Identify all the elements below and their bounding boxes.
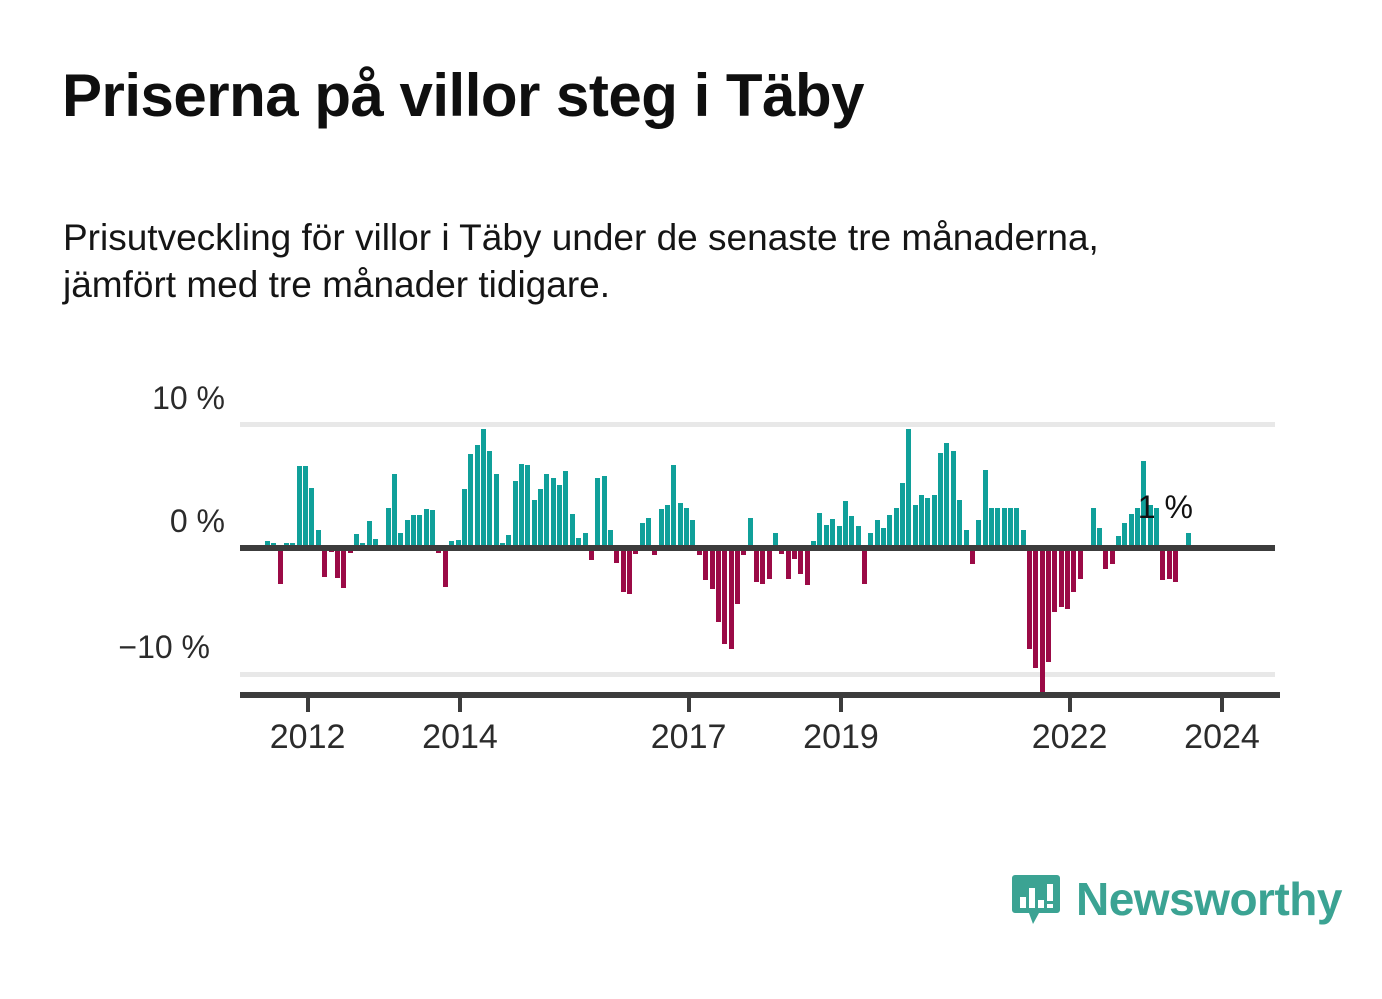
bar: [532, 500, 537, 545]
bar: [837, 526, 842, 545]
x-axis-tick: [1220, 698, 1224, 712]
bar: [944, 443, 949, 546]
bar: [1033, 549, 1038, 668]
x-axis-tick: [1068, 698, 1072, 712]
bar: [957, 500, 962, 545]
bar: [906, 429, 911, 545]
bar: [659, 509, 664, 545]
bar: [983, 470, 988, 545]
bar: [1002, 508, 1007, 546]
bar: [411, 515, 416, 545]
bar: [690, 520, 695, 545]
bar: [1129, 514, 1134, 545]
bar: [786, 549, 791, 579]
bar: [398, 533, 403, 546]
bar: [894, 508, 899, 546]
bar: [544, 474, 549, 545]
bar: [1173, 549, 1178, 582]
bar: [887, 515, 892, 545]
bar: [1103, 549, 1108, 569]
bar: [1052, 549, 1057, 612]
bar: [1186, 533, 1191, 546]
x-axis-tick: [306, 698, 310, 712]
bar: [824, 525, 829, 545]
bar: [1116, 536, 1121, 545]
bar: [1091, 508, 1096, 546]
bar: [513, 481, 518, 545]
bar: [538, 489, 543, 545]
bar: [976, 520, 981, 545]
bar: [1078, 549, 1083, 579]
x-axis-tick-label: 2017: [651, 718, 727, 757]
bar: [925, 498, 930, 546]
bar: [862, 549, 867, 584]
bar: [468, 454, 473, 545]
bar: [335, 549, 340, 578]
bar: [995, 508, 1000, 546]
bar: [938, 453, 943, 546]
bar: [735, 549, 740, 604]
bar: [900, 483, 905, 546]
bar: [1167, 549, 1172, 579]
bar: [671, 465, 676, 545]
bar: [951, 451, 956, 545]
bar: [843, 501, 848, 545]
bar: [487, 451, 492, 545]
bar: [710, 549, 715, 589]
x-axis-tick-label: 2019: [803, 718, 879, 757]
bar: [913, 505, 918, 545]
bar: [341, 549, 346, 588]
bar: [557, 485, 562, 545]
bar: [767, 549, 772, 579]
bar: [1097, 528, 1102, 546]
bar: [875, 520, 880, 545]
bar: [576, 538, 581, 546]
bar: [1027, 549, 1032, 649]
bar: [964, 530, 969, 545]
bar: [716, 549, 721, 622]
bar: [868, 533, 873, 546]
bar: [881, 528, 886, 546]
bar: [703, 549, 708, 580]
bar: [1046, 549, 1051, 662]
bar: [462, 489, 467, 545]
x-axis-tick: [458, 698, 462, 712]
x-axis-tick-label: 2014: [422, 718, 498, 757]
bar: [430, 510, 435, 545]
bar-chart: 1 % 10 % 0 % −10 % 201220142017201920222…: [0, 370, 1382, 770]
x-axis-tick-label: 2022: [1032, 718, 1108, 757]
bar: [506, 535, 511, 545]
bar: [646, 518, 651, 546]
bar: [678, 503, 683, 546]
bar: [856, 526, 861, 545]
bar: [494, 474, 499, 545]
bar: [798, 549, 803, 574]
bar: [805, 549, 810, 585]
bar-series: [240, 395, 1275, 685]
bar: [817, 513, 822, 546]
bar: [481, 429, 486, 545]
bar: [1059, 549, 1064, 607]
bar: [583, 533, 588, 546]
bar: [297, 466, 302, 545]
bar: [665, 505, 670, 545]
bar: [424, 509, 429, 545]
chart-bubble-icon: [1009, 872, 1063, 926]
bar: [405, 520, 410, 545]
plot-area: 1 %: [240, 395, 1275, 685]
bar: [354, 534, 359, 545]
y-axis-label-minus-10: −10 %: [60, 629, 210, 666]
bar: [563, 471, 568, 545]
page-subtitle: Prisutveckling för villor i Täby under d…: [63, 215, 1193, 309]
bar: [1065, 549, 1070, 609]
bar: [1021, 530, 1026, 545]
bar: [443, 549, 448, 587]
bar: [640, 523, 645, 546]
bar: [1160, 549, 1165, 580]
bar: [309, 488, 314, 546]
x-axis-line: [240, 692, 1280, 698]
bar: [303, 466, 308, 545]
bar: [760, 549, 765, 584]
bar: [1122, 523, 1127, 546]
infographic-page: Priserna på villor steg i Täby Prisutvec…: [0, 0, 1382, 999]
bar: [595, 478, 600, 546]
x-axis-tick: [839, 698, 843, 712]
bar: [278, 549, 283, 584]
bar: [1110, 549, 1115, 564]
bar: [621, 549, 626, 592]
bar: [602, 476, 607, 545]
bar: [392, 474, 397, 545]
x-axis-tick: [687, 698, 691, 712]
bar: [1071, 549, 1076, 592]
bar: [525, 465, 530, 545]
bar: [748, 518, 753, 546]
bar: [722, 549, 727, 644]
bar: [919, 495, 924, 545]
bar: [970, 549, 975, 564]
last-value-annotation: 1 %: [1138, 489, 1193, 526]
bar: [386, 508, 391, 546]
bar: [684, 508, 689, 546]
bar: [322, 549, 327, 577]
bar: [608, 530, 613, 545]
y-axis-label-10: 10 %: [75, 380, 225, 417]
bar: [417, 515, 422, 545]
bar: [989, 508, 994, 546]
bar: [1014, 508, 1019, 546]
bar: [367, 521, 372, 545]
bar: [1040, 549, 1045, 697]
bar: [551, 478, 556, 546]
bar: [773, 533, 778, 546]
bar: [849, 516, 854, 545]
x-axis-tick-label: 2024: [1184, 718, 1260, 757]
newsworthy-logo: Newsworthy: [1009, 872, 1342, 926]
bar: [316, 530, 321, 545]
bar: [1008, 508, 1013, 546]
bar: [729, 549, 734, 649]
bar: [614, 549, 619, 563]
y-axis-label-0: 0 %: [75, 503, 225, 540]
bar: [519, 464, 524, 545]
bar: [627, 549, 632, 594]
bar: [570, 514, 575, 545]
bar: [932, 495, 937, 545]
page-title: Priserna på villor steg i Täby: [62, 64, 1262, 127]
logo-wordmark: Newsworthy: [1076, 876, 1342, 922]
x-axis-tick-label: 2012: [270, 718, 346, 757]
bar: [754, 549, 759, 582]
bar: [475, 445, 480, 545]
bar: [830, 519, 835, 545]
zero-baseline: [240, 545, 1275, 551]
